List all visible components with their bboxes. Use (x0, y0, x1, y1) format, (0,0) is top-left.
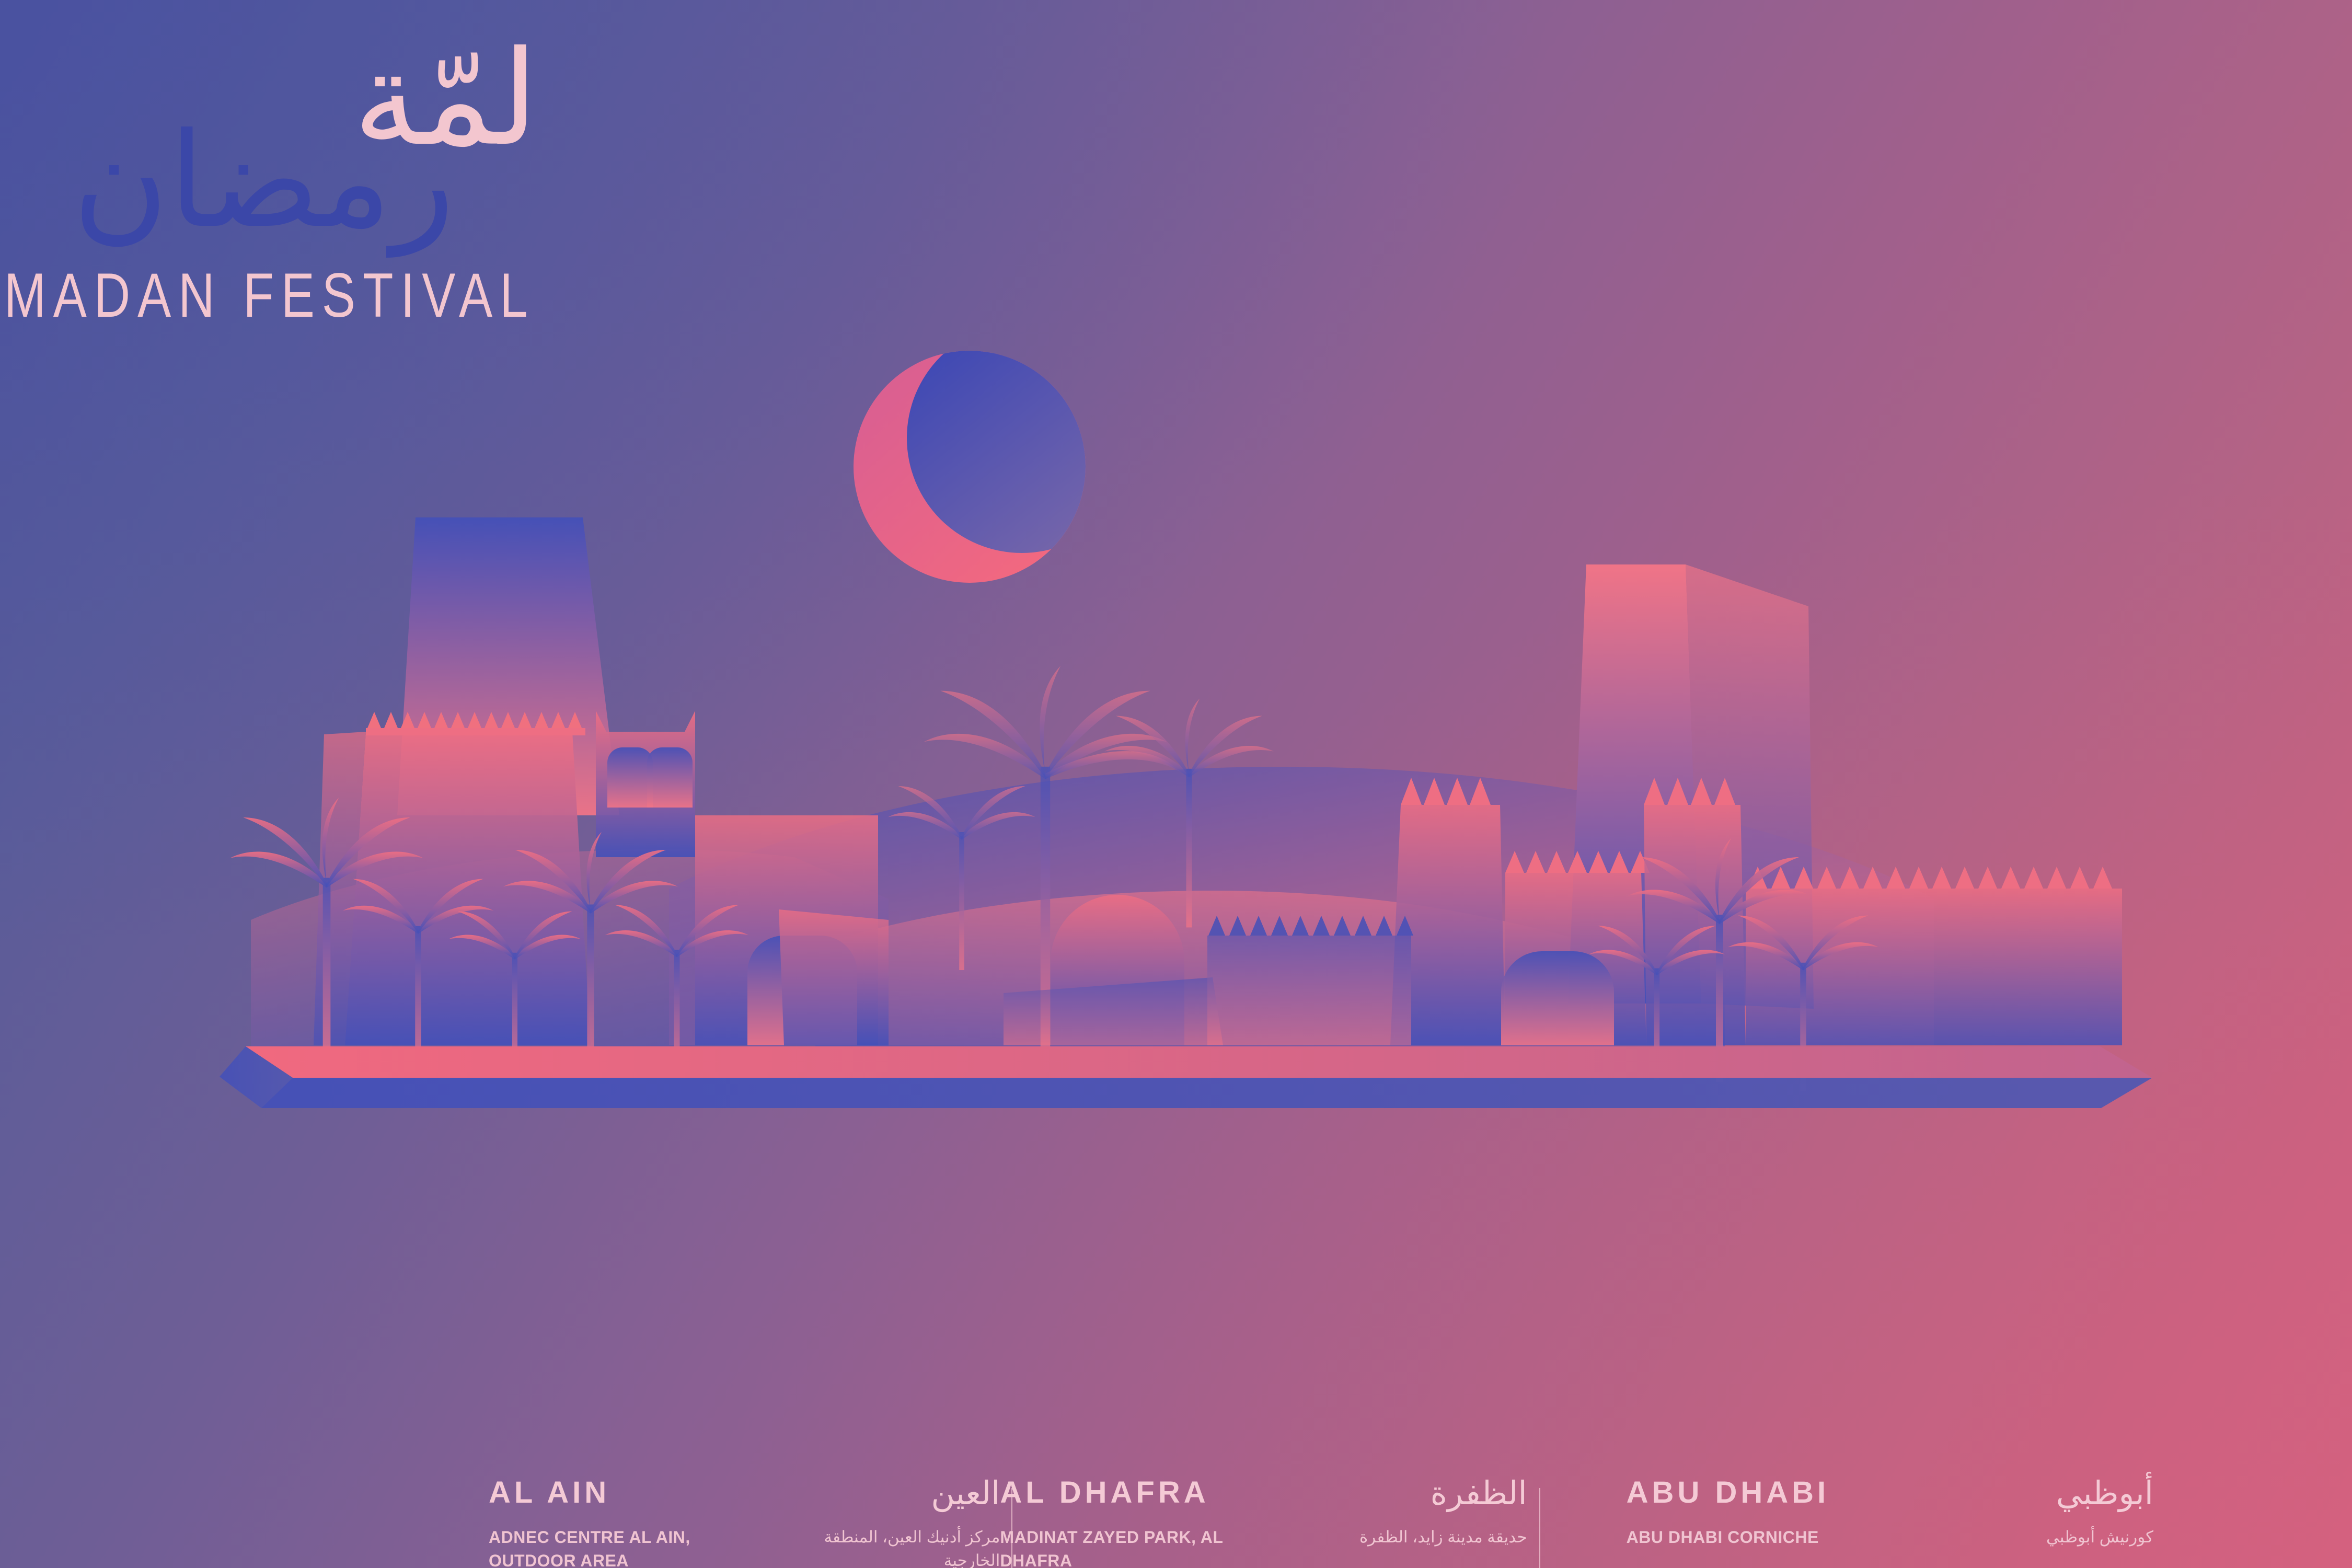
locations-band: AL AIN العين ADNEC CENTRE AL AIN, OUTDOO… (489, 1478, 2153, 1568)
venue-name-ar: حديقة مدينة زايد، الظفرة (1359, 1526, 1527, 1549)
venue-row: MADINAT ZAYED PARK, AL DHAFRA حديقة مدين… (1000, 1526, 1527, 1568)
masthead: لمّة رمضان RAMADAN FESTIVAL (0, 31, 606, 315)
base-plinth (220, 1045, 2153, 1108)
city-row: AL AIN العين (489, 1478, 1000, 1510)
fort-left (314, 712, 591, 1045)
crescent-moon-icon (854, 323, 1137, 583)
arabic-wordmark: لمّة رمضان (0, 31, 606, 261)
venue-name-ar: مركز أدنيك العين، المنطقة الخارجية (780, 1526, 1000, 1568)
location-card-al-dhafra[interactable]: AL DHAFRA الظفرة MADINAT ZAYED PARK, AL … (1000, 1478, 1527, 1568)
city-name-ar: الظفرة (1431, 1478, 1527, 1510)
city-name-ar: أبوظبي (2056, 1478, 2153, 1510)
location-card-al-ain[interactable]: AL AIN العين ADNEC CENTRE AL AIN, OUTDOO… (489, 1478, 1000, 1568)
ramadan-festival-poster: لمّة رمضان RAMADAN FESTIVAL AL AIN العين… (0, 0, 2352, 1568)
city-name-en: AL DHAFRA (1000, 1478, 1209, 1508)
city-name-en: ABU DHABI (1627, 1478, 1829, 1508)
location-card-abu-dhabi[interactable]: ABU DHABI أبوظبي ABU DHABI CORNICHE كورن… (1627, 1478, 2153, 1568)
venue-name-en: ADNEC CENTRE AL AIN, OUTDOOR AREA (489, 1526, 750, 1568)
wordmark-ramadan: رمضان (73, 105, 455, 258)
column-divider-2 (1539, 1488, 1540, 1568)
city-row: AL DHAFRA الظفرة (1000, 1478, 1527, 1510)
arched-gate-right (1501, 951, 1614, 1045)
venue-name-ar: كورنيش أبوظبي (2046, 1526, 2153, 1549)
city-name-en: AL AIN (489, 1478, 610, 1508)
city-row: ABU DHABI أبوظبي (1627, 1478, 2153, 1510)
venue-name-en: MADINAT ZAYED PARK, AL DHAFRA (1000, 1526, 1261, 1568)
venue-row: ADNEC CENTRE AL AIN, OUTDOOR AREA مركز أ… (489, 1526, 1000, 1568)
city-name-ar: العين (931, 1478, 1000, 1510)
venue-row: ABU DHABI CORNICHE كورنيش أبوظبي (1627, 1526, 2153, 1549)
house-center-a (779, 909, 889, 1045)
windtower-left (596, 711, 695, 857)
festival-title-en: RAMADAN FESTIVAL (0, 264, 606, 327)
venue-name-en: ABU DHABI CORNICHE (1627, 1526, 1819, 1549)
